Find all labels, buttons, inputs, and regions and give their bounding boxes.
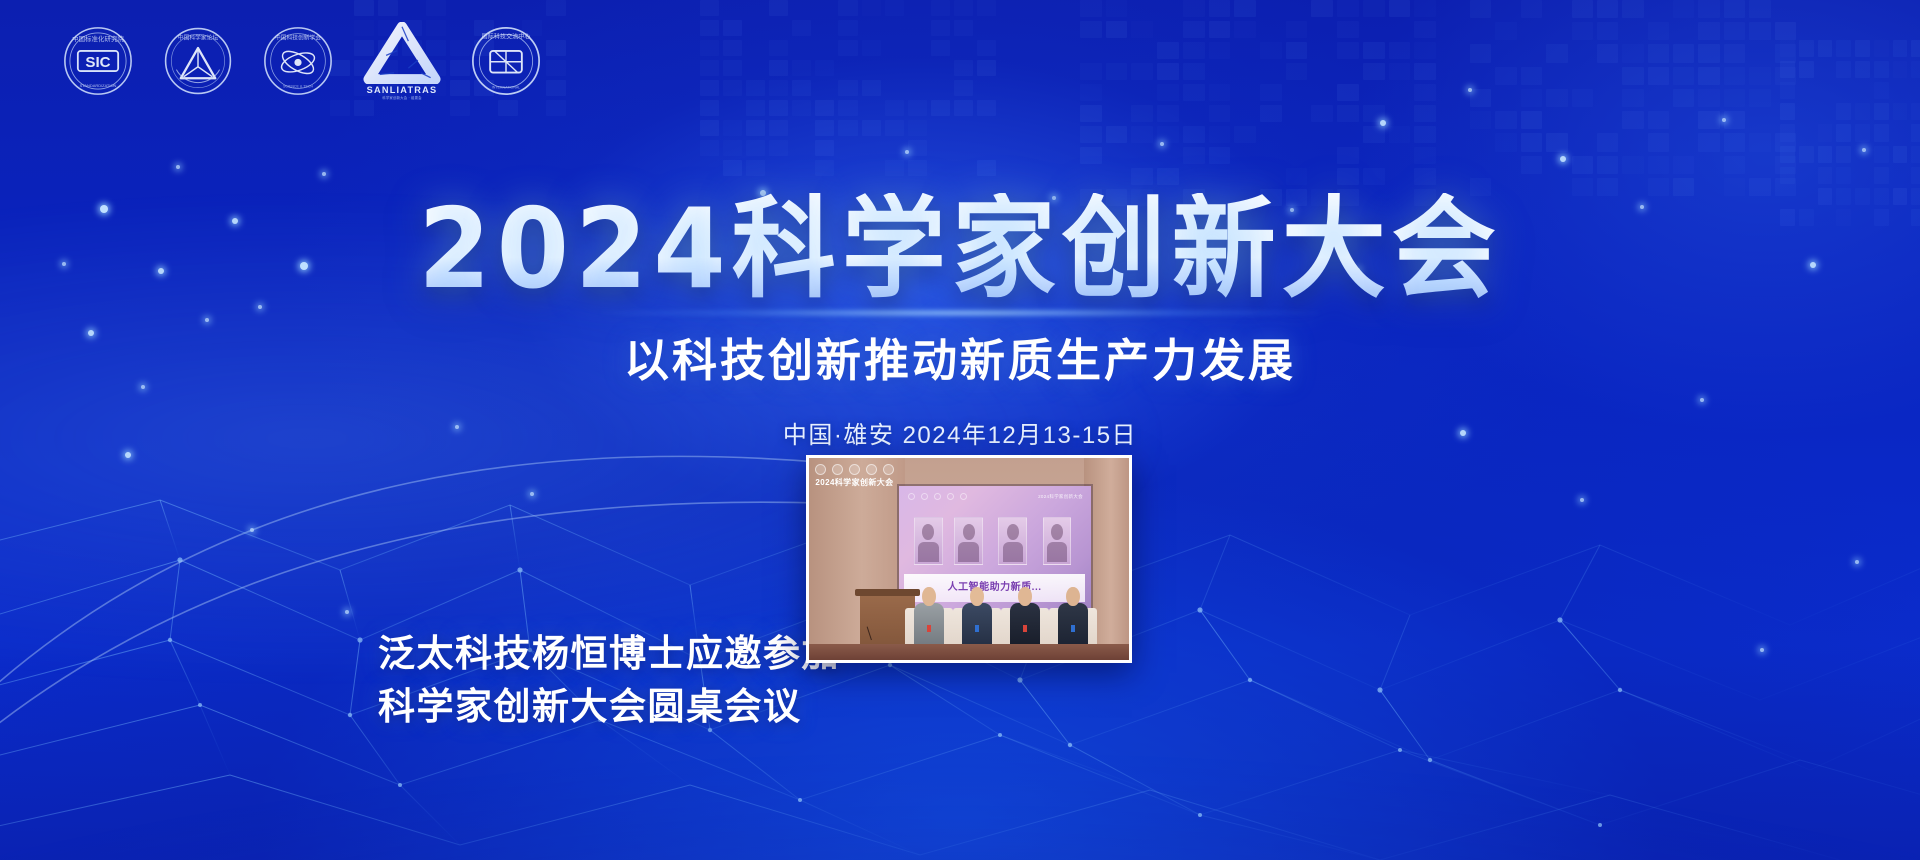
- title-block: 2024科学家创新大会 以科技创新推动新质生产力发展 中国·雄安 2024年12…: [0, 196, 1920, 450]
- svg-text:SIC: SIC: [85, 54, 110, 71]
- photo-stage-header: 2024科学家创新大会: [815, 464, 905, 496]
- seal-logo-globe-icon: 国际科技交流中心 INTERNATIONAL: [470, 25, 542, 97]
- seal-logo-triangle-icon: 中国科学家论坛: [162, 25, 234, 97]
- title-underglow: [600, 308, 1320, 318]
- svg-text:SCIENCE & TECH: SCIENCE & TECH: [283, 85, 313, 89]
- triangle-logo-subcaption: 科学家创新大会 · 组委会: [362, 95, 442, 100]
- event-photo: 2024科学家创新大会 2024科学家创新大会 人工智能助力新: [806, 455, 1132, 663]
- svg-text:中国标准化研究院: 中国标准化研究院: [72, 34, 124, 43]
- slide-portrait: [954, 517, 983, 565]
- podium-microphone-icon: [867, 627, 872, 641]
- slide-portrait: [914, 517, 943, 565]
- sub-title: 以科技创新推动新质生产力发展: [0, 324, 1920, 389]
- slide-portrait: [998, 517, 1027, 565]
- svg-text:INTERNATIONAL: INTERNATIONAL: [492, 85, 521, 89]
- triangle-logo-caption: SANLIATRAS: [361, 85, 443, 95]
- photo-scene: 2024科学家创新大会 2024科学家创新大会 人工智能助力新: [809, 458, 1129, 660]
- photo-header-icons: [815, 464, 905, 475]
- photo-stage-floor: [809, 644, 1129, 660]
- main-title: 2024科学家创新大会: [418, 193, 1501, 305]
- conference-banner: 中国标准化研究院 STANDARDIZATION SIC 中国科学家论坛: [0, 0, 1920, 860]
- svg-text:STANDARDIZATION: STANDARDIZATION: [80, 83, 117, 88]
- partner-logo-row: 中国标准化研究院 STANDARDIZATION SIC 中国科学家论坛: [62, 22, 542, 100]
- event-caption: 泛太科技杨恒博士应邀参加 科学家创新大会圆桌会议: [378, 628, 798, 733]
- svg-text:中国科技创新学会: 中国科技创新学会: [275, 33, 321, 41]
- caption-line-1: 泛太科技杨恒博士应邀参加: [378, 628, 798, 681]
- seal-logo-sic-icon: 中国标准化研究院 STANDARDIZATION SIC: [62, 25, 134, 97]
- slide-title: 2024科学家创新大会: [1038, 494, 1083, 500]
- triangle-logo-sanliatras: SANLIATRAS 科学家创新大会 · 组委会: [362, 22, 442, 100]
- slide-icon-row: [908, 493, 967, 500]
- svg-text:国际科技交流中心: 国际科技交流中心: [482, 33, 531, 41]
- slide-portrait: [1043, 517, 1072, 565]
- photo-header-text: 2024科学家创新大会: [815, 477, 905, 488]
- seal-logo-atom-icon: 中国科技创新学会 SCIENCE & TECH: [262, 25, 334, 97]
- location-date-line: 中国·雄安 2024年12月13-15日: [0, 415, 1920, 450]
- caption-line-2: 科学家创新大会圆桌会议: [378, 681, 798, 734]
